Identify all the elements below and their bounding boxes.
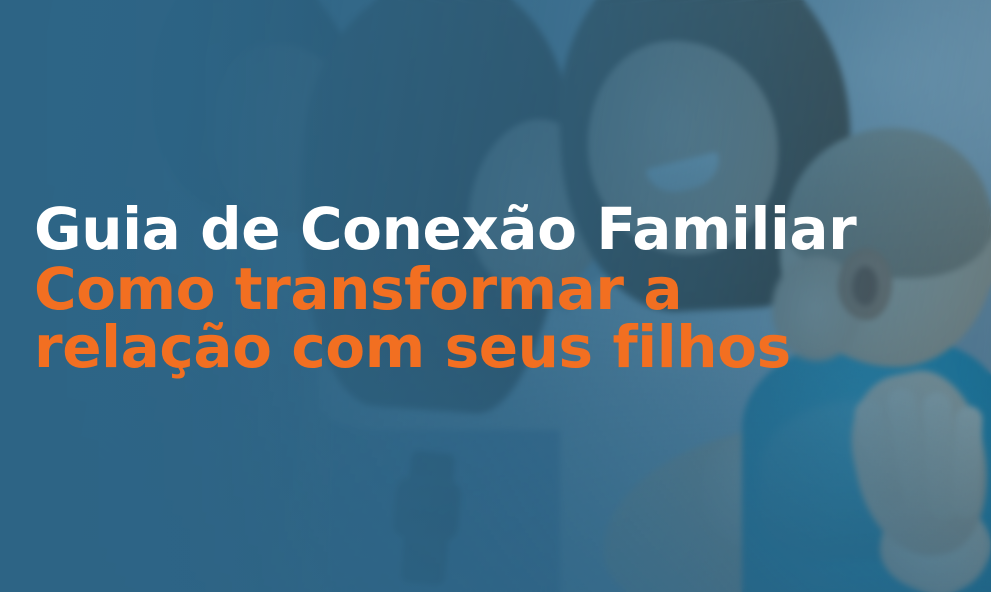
adult-finger [952,406,983,519]
headline-title: Guia de Conexão Familiar [34,198,934,260]
subtitle-line-two: relação com seus filhos [34,318,934,376]
hero-banner: Guia de Conexão Familiar Como transforma… [0,0,991,592]
title-block: Guia de Conexão Familiar Como transforma… [34,198,934,376]
subtitle-line-one: Como transformar a [34,260,934,318]
smartwatch-face [391,475,462,543]
